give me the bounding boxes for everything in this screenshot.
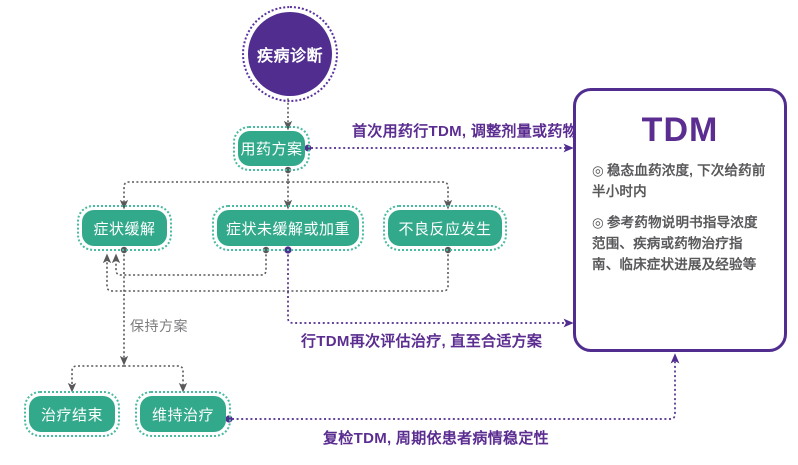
edge-label-reassess: 行TDM再次评估治疗, 直至合适方案 (301, 330, 542, 351)
wire-to-treatment-end (72, 366, 124, 388)
node-not-relieved-label: 症状未缓解或加重 (226, 218, 350, 239)
node-adverse[interactable]: 不良反应发生 (388, 210, 502, 246)
wire-to-maintain (124, 366, 183, 388)
tdm-bullet-item: ◎参考药物说明书指导浓度范围、疾病或药物治疗指 南、临床症状进展及经验等 (592, 213, 768, 276)
flowchart-canvas: 疾病诊断 用药方案 症状缓解 症状未缓解或加重 不良反应发生 治疗结束 维持治疗… (0, 0, 798, 465)
edge-label-keep-plan: 保持方案 (130, 316, 188, 336)
node-not-relieved[interactable]: 症状未缓解或加重 (217, 210, 359, 246)
bullet-marker-icon: ◎ (592, 163, 604, 178)
node-diagnosis[interactable]: 疾病诊断 (248, 12, 332, 96)
node-treatment-end[interactable]: 治疗结束 (29, 396, 115, 432)
wire-recheck-to-tdm (232, 358, 675, 419)
node-maintain-label: 维持治疗 (152, 404, 214, 425)
edge-label-first-dose: 首次用药行TDM, 调整剂量或药物 (352, 120, 578, 141)
wire-plan-to-relieved (124, 182, 288, 205)
node-plan-label: 用药方案 (240, 138, 302, 159)
node-adverse-label: 不良反应发生 (398, 218, 491, 239)
tdm-bullet-item: ◎稳态血药浓度, 下次给药前半小时内 (592, 161, 768, 203)
wire-adverse-loop-back (107, 250, 448, 291)
node-relieved-label: 症状缓解 (93, 218, 155, 239)
node-diagnosis-label: 疾病诊断 (257, 42, 323, 66)
node-plan[interactable]: 用药方案 (238, 131, 305, 166)
node-treatment-end-label: 治疗结束 (41, 404, 103, 425)
tdm-bullet-text: 参考药物说明书指导浓度范围、疾病或药物治疗指 南、临床症状进展及经验等 (592, 215, 758, 272)
node-relieved[interactable]: 症状缓解 (82, 210, 167, 246)
tdm-info-panel[interactable]: TDM ◎稳态血药浓度, 下次给药前半小时内 ◎参考药物说明书指导浓度范围、疾病… (573, 88, 787, 352)
edge-label-recheck: 复检TDM, 周期依患者病情稳定性 (323, 427, 549, 448)
bullet-marker-icon: ◎ (592, 215, 604, 230)
tdm-bullet-text: 稳态血药浓度, 下次给药前半小时内 (592, 163, 766, 199)
wire-reassess-to-tdm (288, 250, 569, 323)
wire-plan-to-adverse (288, 182, 448, 205)
tdm-panel-title: TDM (592, 113, 768, 147)
node-maintain[interactable]: 维持治疗 (140, 396, 226, 432)
wire-notrelieved-loop-back (116, 250, 266, 275)
